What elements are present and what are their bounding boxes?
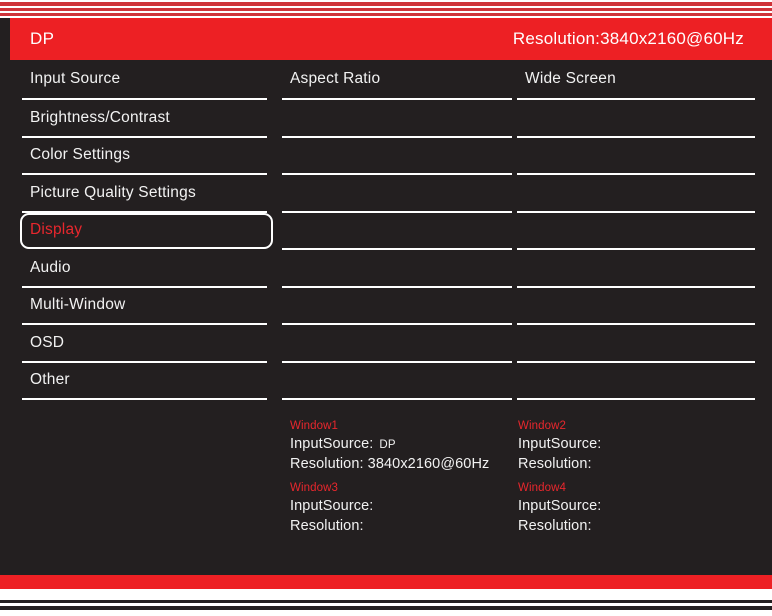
option-item-label: Wide Screen [517, 70, 616, 88]
menu-item-label: Brightness/Contrast [22, 109, 170, 127]
window-input-source-label: InputSource: [518, 498, 601, 514]
window-resolution-value [364, 518, 368, 534]
decorative-stripe-bottom-2 [0, 606, 772, 610]
window-title: Window2 [518, 420, 748, 432]
window-input-source-value [601, 501, 607, 513]
menu-item-label: Other [22, 371, 70, 389]
menu-item-label: Color Settings [22, 146, 130, 164]
window-input-source-row: InputSource: [290, 497, 510, 517]
window-resolution-label: Resolution: [290, 456, 364, 472]
submenu-item-empty-1: . [282, 100, 512, 138]
window-info-block-4: Window4 InputSource: Resolution: [518, 482, 748, 536]
menu-item-label: Picture Quality Settings [22, 184, 196, 202]
decorative-stripe-bottom-red [0, 575, 772, 589]
window-info-block-2: Window2 InputSource: Resolution: [518, 420, 748, 474]
menu-item-label: OSD [22, 334, 64, 352]
decorative-stripe-top-1 [0, 2, 772, 6]
window-input-source-value [373, 501, 379, 513]
window-input-source-row: InputSource: [518, 497, 748, 517]
menu-item-other[interactable]: Other [22, 363, 267, 401]
window-input-source-label: InputSource: [290, 498, 373, 514]
window-resolution-row: Resolution: [518, 455, 748, 475]
option-item-empty-1: . [517, 100, 755, 138]
option-item-wide-screen[interactable]: Wide Screen [517, 60, 755, 100]
submenu-item-empty-7: . [282, 325, 512, 363]
option-item-empty-6: . [517, 288, 755, 326]
decorative-stripe-top-3 [0, 13, 772, 16]
window-info-block-3: Window3 InputSource: Resolution: [290, 482, 510, 536]
menu-item-label: Audio [22, 259, 71, 277]
window-resolution-row: Resolution: [518, 517, 748, 537]
window-input-source-value: DP [373, 439, 395, 451]
menu-item-multi-window[interactable]: Multi-Window [22, 288, 267, 326]
window-input-source-label: InputSource: [518, 436, 601, 452]
option-item-empty-7: . [517, 325, 755, 363]
window-resolution-value: 3840x2160@60Hz [364, 456, 490, 472]
menu-item-audio[interactable]: Audio [22, 250, 267, 288]
osd-header-bar: DP Resolution:3840x2160@60Hz [0, 18, 772, 60]
current-input-source-label: DP [30, 29, 54, 49]
menu-item-osd[interactable]: OSD [22, 325, 267, 363]
option-item-empty-5: . [517, 250, 755, 288]
window-info-panel-right: Window2 InputSource: Resolution: Window4… [518, 420, 748, 544]
options-column: Wide Screen . . . . . . . . [517, 60, 755, 400]
menu-item-label: Display [22, 221, 82, 239]
menu-item-brightness-contrast[interactable]: Brightness/Contrast [22, 100, 267, 138]
main-menu-column: Input Source Brightness/Contrast Color S… [22, 60, 267, 400]
window-resolution-label: Resolution: [290, 518, 364, 534]
option-item-empty-4: . [517, 213, 755, 251]
osd-menu-root: DP Resolution:3840x2160@60Hz Input Sourc… [0, 0, 772, 616]
window-title: Window4 [518, 482, 748, 494]
option-item-empty-2: . [517, 138, 755, 176]
window-input-source-value [601, 439, 607, 451]
window-input-source-row: InputSource: [518, 435, 748, 455]
menu-item-color-settings[interactable]: Color Settings [22, 138, 267, 176]
window-resolution-value [592, 518, 596, 534]
current-resolution-label: Resolution:3840x2160@60Hz [513, 29, 744, 49]
submenu-item-aspect-ratio[interactable]: Aspect Ratio [282, 60, 512, 100]
menu-item-label: Input Source [22, 70, 120, 88]
menu-item-picture-quality-settings[interactable]: Picture Quality Settings [22, 175, 267, 213]
window-info-block-1: Window1 InputSource:DP Resolution:3840x2… [290, 420, 510, 474]
submenu-item-empty-5: . [282, 250, 512, 288]
submenu-item-empty-6: . [282, 288, 512, 326]
window-resolution-row: Resolution: [290, 517, 510, 537]
window-input-source-row: InputSource:DP [290, 435, 510, 455]
window-info-panel-left: Window1 InputSource:DP Resolution:3840x2… [290, 420, 510, 544]
submenu-item-empty-4: . [282, 213, 512, 251]
menu-item-display[interactable]: Display [22, 213, 267, 251]
window-resolution-label: Resolution: [518, 518, 592, 534]
window-resolution-row: Resolution:3840x2160@60Hz [290, 455, 510, 475]
decorative-stripe-top-2 [0, 8, 772, 11]
menu-item-input-source[interactable]: Input Source [22, 60, 267, 100]
submenu-item-empty-2: . [282, 138, 512, 176]
submenu-column: Aspect Ratio . . . . . . . . [282, 60, 512, 400]
option-item-empty-8: . [517, 363, 755, 401]
window-resolution-label: Resolution: [518, 456, 592, 472]
window-resolution-value [592, 456, 596, 472]
window-input-source-label: InputSource: [290, 436, 373, 452]
submenu-item-empty-8: . [282, 363, 512, 401]
decorative-stripe-bottom-1 [0, 600, 772, 603]
window-title: Window1 [290, 420, 510, 432]
window-title: Window3 [290, 482, 510, 494]
option-item-empty-3: . [517, 175, 755, 213]
submenu-item-label: Aspect Ratio [282, 70, 380, 88]
submenu-item-empty-3: . [282, 175, 512, 213]
menu-item-label: Multi-Window [22, 296, 125, 314]
